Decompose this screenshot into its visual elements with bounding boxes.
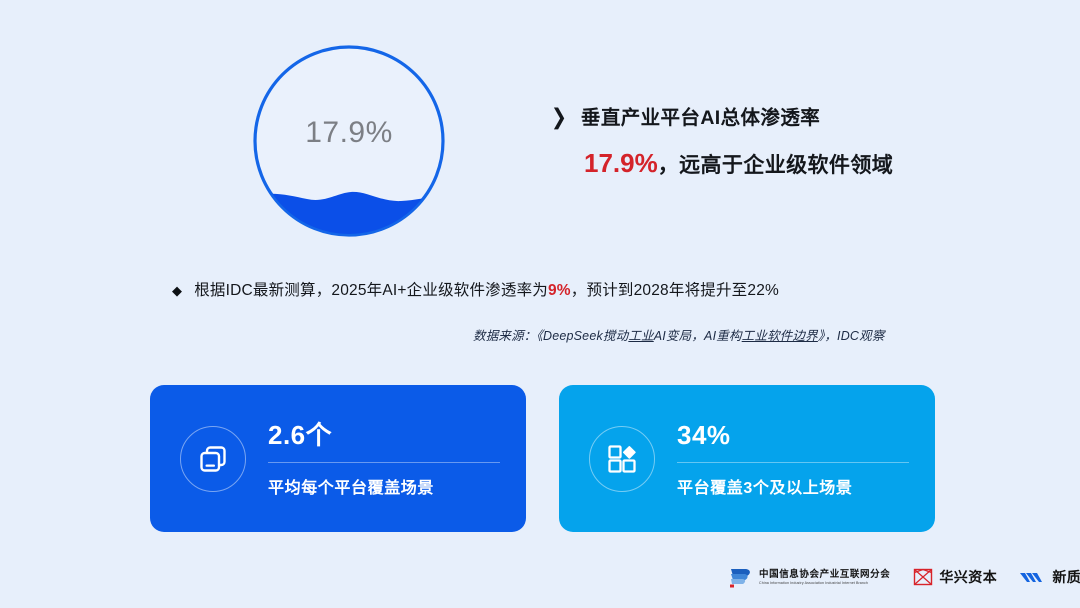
- three-plus-scenarios-card-body: 34% 平台覆盖3个及以上场景: [677, 419, 935, 498]
- headline-subtitle: 17.9%，远高于企业级软件领域: [584, 148, 1021, 181]
- source-citation-open: 《DeepSeek搅动: [537, 329, 629, 343]
- bullet-text-after: ，预计到2028年将提升至22%: [571, 282, 779, 299]
- ciia-text-block: 中国信息协会产业互联网分会 China Information Industry…: [759, 569, 890, 586]
- xinzhi-yunqi-logo: 新质云起: [1019, 567, 1080, 587]
- source-citation-underline-1: 工业: [628, 329, 653, 343]
- headline-title-row: ❯ 垂直产业平台AI总体渗透率: [551, 104, 1021, 132]
- source-suffix: ，IDC观察: [824, 329, 884, 343]
- stat-cards-row: 2.6个 平均每个平台覆盖场景 34% 平台覆盖3个及以上场景: [150, 385, 935, 532]
- source-citation-underline-2: 工业软件边界: [742, 329, 818, 343]
- bullet-text-before: 根据IDC最新测算，2025年AI+企业级软件渗透率为: [194, 282, 548, 299]
- three-plus-scenarios-label: 平台覆盖3个及以上场景: [677, 474, 909, 498]
- headline-title: 垂直产业平台AI总体渗透率: [581, 104, 820, 132]
- three-plus-scenarios-card[interactable]: 34% 平台覆盖3个及以上场景: [559, 385, 935, 532]
- copy-stack-icon-circle: [180, 426, 246, 492]
- avg-scenarios-value: 2.6个: [268, 419, 500, 451]
- footer-logo-bar: 中国信息协会产业互联网分会 China Information Industry…: [728, 566, 1080, 588]
- ciia-mark-icon: [728, 566, 754, 588]
- slide-canvas: 17.9% ❯ 垂直产业平台AI总体渗透率 17.9%，远高于企业级软件领域 ◆…: [0, 0, 1080, 608]
- bullet-accent-value: 9%: [548, 282, 571, 299]
- diamond-bullet-icon: ◆: [172, 284, 182, 297]
- xinzhi-yunqi-name-cn: 新质云起: [1052, 567, 1080, 587]
- china-renaissance-logo: 华兴资本: [912, 566, 997, 588]
- ciia-name-en: China Information Industry Association I…: [759, 580, 890, 586]
- headline-sub-rest: ，远高于企业级软件领域: [658, 154, 893, 177]
- data-source-note: 数据来源：《DeepSeek搅动工业AI变局，AI重构工业软件边界》，IDC观察: [473, 325, 885, 344]
- grid-diamond-icon-circle: [589, 426, 655, 492]
- source-prefix: 数据来源：: [473, 329, 537, 343]
- source-citation-mid: AI变局，AI重构: [654, 329, 742, 343]
- ciia-name-cn: 中国信息协会产业互联网分会: [759, 569, 890, 580]
- gauge-value-label: 17.9%: [251, 43, 447, 239]
- avg-scenarios-label: 平均每个平台覆盖场景: [268, 474, 500, 498]
- chevron-right-icon: ❯: [551, 102, 567, 134]
- avg-scenarios-card[interactable]: 2.6个 平均每个平台覆盖场景: [150, 385, 526, 532]
- idc-bullet-text: 根据IDC最新测算，2025年AI+企业级软件渗透率为9%，预计到2028年将提…: [194, 278, 779, 300]
- headline-accent-value: 17.9%: [584, 148, 658, 178]
- avg-scenarios-card-body: 2.6个 平均每个平台覆盖场景: [268, 419, 526, 498]
- china-renaissance-name-cn: 华兴资本: [939, 567, 997, 587]
- card-divider: [677, 462, 909, 463]
- china-renaissance-mark-icon: [912, 566, 934, 588]
- grid-diamond-icon: [605, 442, 639, 476]
- card-divider: [268, 462, 500, 463]
- headline-block: ❯ 垂直产业平台AI总体渗透率 17.9%，远高于企业级软件领域: [551, 104, 1021, 181]
- water-fill-gauge: 17.9%: [251, 43, 447, 239]
- three-plus-scenarios-value: 34%: [677, 419, 909, 451]
- copy-stack-icon: [196, 442, 230, 476]
- china-information-industry-association-logo: 中国信息协会产业互联网分会 China Information Industry…: [728, 566, 890, 588]
- xinzhi-yunqi-mark-icon: [1019, 567, 1047, 587]
- idc-bullet-row: ◆ 根据IDC最新测算，2025年AI+企业级软件渗透率为9%，预计到2028年…: [172, 278, 779, 300]
